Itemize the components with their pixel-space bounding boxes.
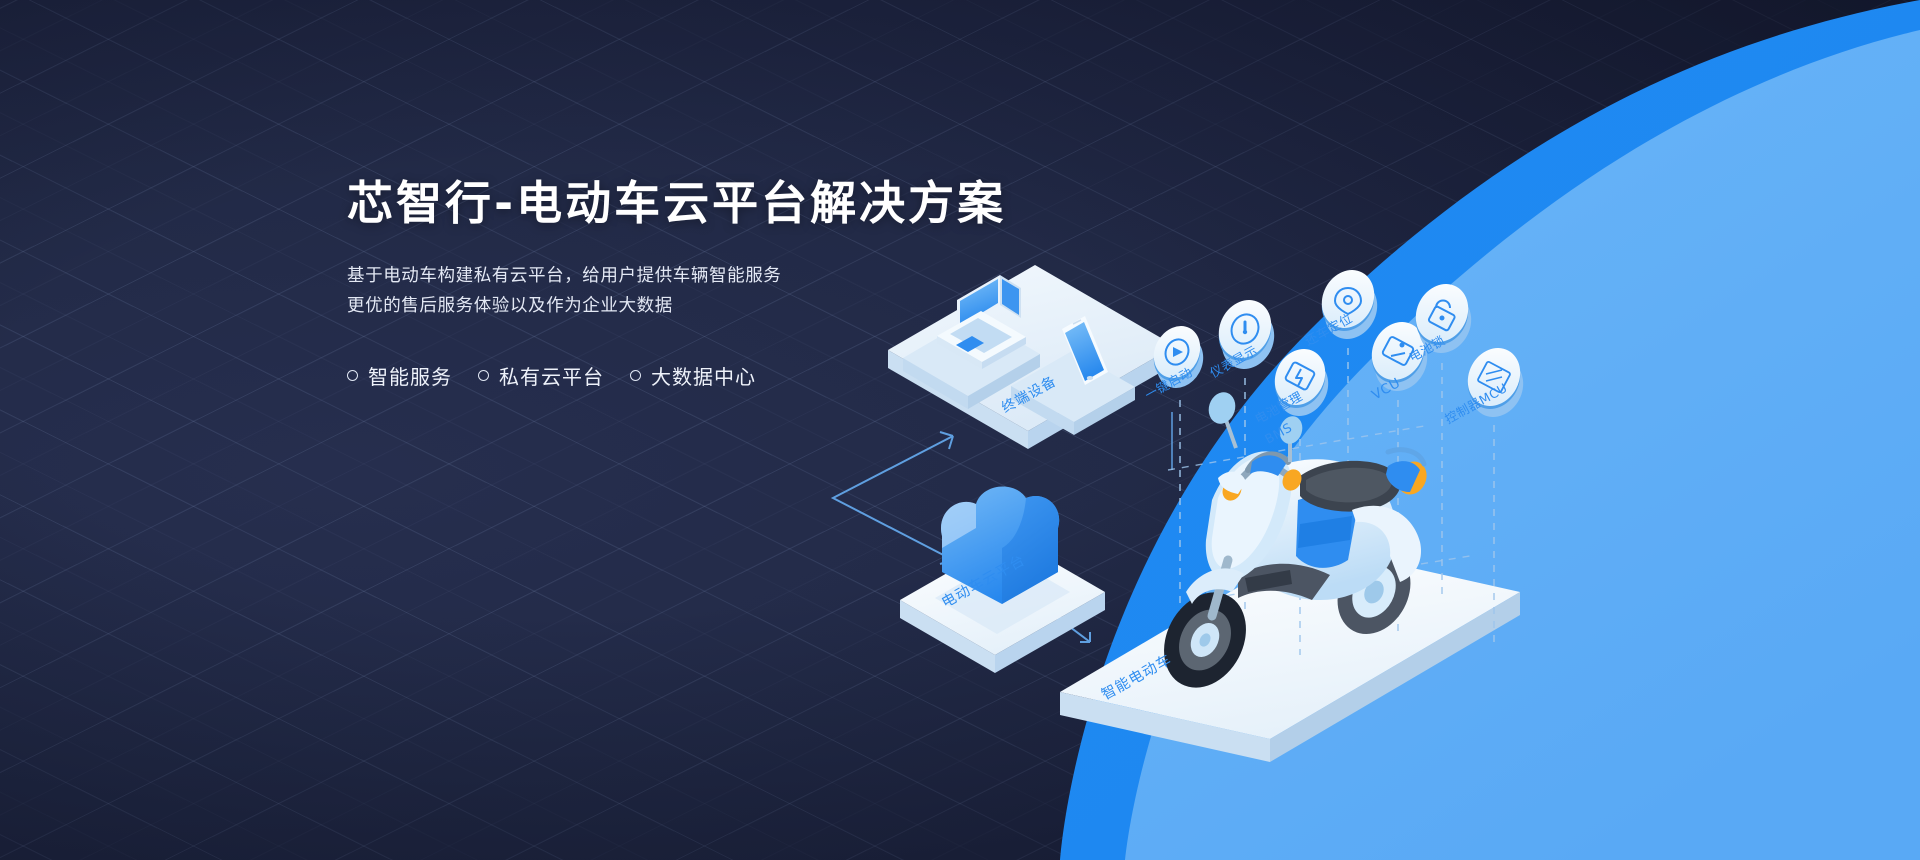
- cloud-platform-group: 电动车云平台: [900, 487, 1105, 673]
- terminal-to-cloud-arrow: [833, 432, 953, 564]
- hero-banner: 芯智行-电动车云平台解决方案 基于电动车构建私有云平台，给用户提供车辆智能服务 …: [0, 0, 1920, 860]
- module-badge-battery-lock[interactable]: 电池锁: [1406, 275, 1481, 365]
- terminal-devices-group: 终端设备: [888, 265, 1175, 449]
- module-badge-return-location[interactable]: 还车定位: [1302, 261, 1387, 349]
- isometric-illustration: 终端设备 电动车云平台: [0, 0, 1920, 860]
- module-badge-dashboard[interactable]: 仪表显示: [1207, 291, 1284, 381]
- module-badge-mcu[interactable]: 控制器MCU: [1442, 339, 1533, 427]
